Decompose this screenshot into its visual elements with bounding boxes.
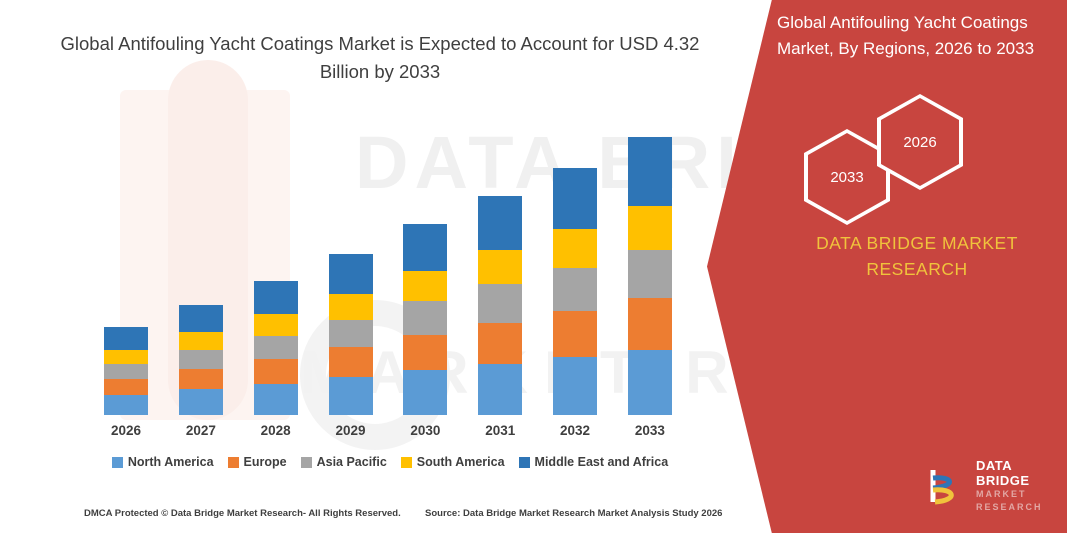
bar-segment[interactable] [628,137,672,206]
bar-segment[interactable] [478,284,522,323]
legend-label: Europe [244,455,287,469]
bar-segment[interactable] [104,379,148,395]
legend-item[interactable]: Asia Pacific [301,455,387,469]
brand-name-line1: DATA BRIDGE MARKET [777,233,1057,254]
chart-legend: North AmericaEuropeAsia PacificSouth Ame… [70,455,710,469]
bar-segment[interactable] [329,254,373,294]
bar-segment[interactable] [254,384,298,415]
bar-segment[interactable] [403,301,447,334]
legend-item[interactable]: Europe [228,455,287,469]
bar-segment[interactable] [104,327,148,350]
bar-column[interactable] [104,327,148,415]
legend-label: South America [417,455,505,469]
footer-source: Source: Data Bridge Market Research Mark… [425,508,722,519]
legend-item[interactable]: South America [401,455,505,469]
bar-segment[interactable] [179,389,223,415]
footer-copyright: DMCA Protected © Data Bridge Market Rese… [84,508,401,519]
bar-segment[interactable] [179,369,223,389]
right-panel: Global Antifouling Yacht Coatings Market… [707,0,1067,533]
bar-column[interactable] [179,305,223,415]
x-axis-tick-label: 2026 [104,423,148,438]
panel-title: Global Antifouling Yacht Coatings Market… [777,10,1057,62]
bar-segment[interactable] [628,350,672,415]
legend-item[interactable]: North America [112,455,214,469]
chart-title: Global Antifouling Yacht Coatings Market… [60,30,700,86]
x-axis-tick-label: 2028 [254,423,298,438]
x-axis-labels: 20262027202820292030203120322033 [88,423,688,438]
bar-segment[interactable] [478,250,522,284]
legend-swatch-icon [401,457,412,468]
bar-segment[interactable] [478,364,522,415]
brand-logo: DATA BRIDGE MARKET RESEARCH [927,458,1067,514]
bar-column[interactable] [254,281,298,415]
bar-column[interactable] [329,254,373,415]
bar-segment[interactable] [254,359,298,384]
legend-item[interactable]: Middle East and Africa [519,455,669,469]
bar-segment[interactable] [329,377,373,415]
hexagon-label-2026: 2026 [903,134,936,151]
bar-segment[interactable] [403,271,447,301]
bar-segment[interactable] [403,224,447,271]
bar-segment[interactable] [179,350,223,369]
bar-segment[interactable] [104,364,148,379]
bar-segment[interactable] [104,350,148,364]
bar-segment[interactable] [403,335,447,370]
bar-column[interactable] [553,168,597,415]
hexagon-inner-2026: 2026 [881,98,959,186]
bar-segment[interactable] [553,357,597,415]
legend-label: North America [128,455,214,469]
bar-segment[interactable] [403,370,447,415]
legend-swatch-icon [228,457,239,468]
hexagon-label-2033: 2033 [830,169,863,186]
brand-logo-tagline: MARKET RESEARCH [976,488,1067,514]
data-bridge-logo-icon [927,466,967,506]
bar-segment[interactable] [179,305,223,333]
x-axis-tick-label: 2029 [329,423,373,438]
hexagon-inner-2033: 2033 [808,133,886,221]
x-axis-tick-label: 2033 [628,423,672,438]
stacked-bar-chart [88,120,688,415]
brand-logo-name: DATA BRIDGE [976,458,1067,488]
x-axis-tick-label: 2027 [179,423,223,438]
legend-swatch-icon [301,457,312,468]
x-axis-tick-label: 2031 [478,423,522,438]
bar-segment[interactable] [553,168,597,229]
bar-segment[interactable] [254,281,298,314]
bar-segment[interactable] [553,229,597,268]
x-axis-tick-label: 2032 [553,423,597,438]
legend-swatch-icon [519,457,530,468]
bar-segment[interactable] [478,323,522,364]
bar-segment[interactable] [553,311,597,357]
bar-column[interactable] [403,224,447,415]
bar-column[interactable] [628,137,672,415]
bar-segment[interactable] [179,332,223,349]
bar-segment[interactable] [628,206,672,250]
bar-segment[interactable] [254,314,298,335]
legend-swatch-icon [112,457,123,468]
legend-label: Middle East and Africa [535,455,669,469]
bar-column[interactable] [478,196,522,415]
bar-segment[interactable] [329,347,373,377]
bar-segment[interactable] [254,336,298,360]
legend-label: Asia Pacific [317,455,387,469]
bar-group [88,120,688,415]
bar-segment[interactable] [478,196,522,250]
bar-segment[interactable] [329,320,373,348]
bar-segment[interactable] [553,268,597,311]
x-axis-tick-label: 2030 [403,423,447,438]
bar-segment[interactable] [329,294,373,320]
brand-logo-text: DATA BRIDGE MARKET RESEARCH [976,458,1067,514]
bar-segment[interactable] [104,395,148,415]
infographic-canvas: DATA BRIDGE MARKET RESEARCH Global Antif… [0,0,1067,533]
bar-segment[interactable] [628,250,672,298]
bar-segment[interactable] [628,298,672,349]
brand-name-line2: RESEARCH [777,259,1057,280]
